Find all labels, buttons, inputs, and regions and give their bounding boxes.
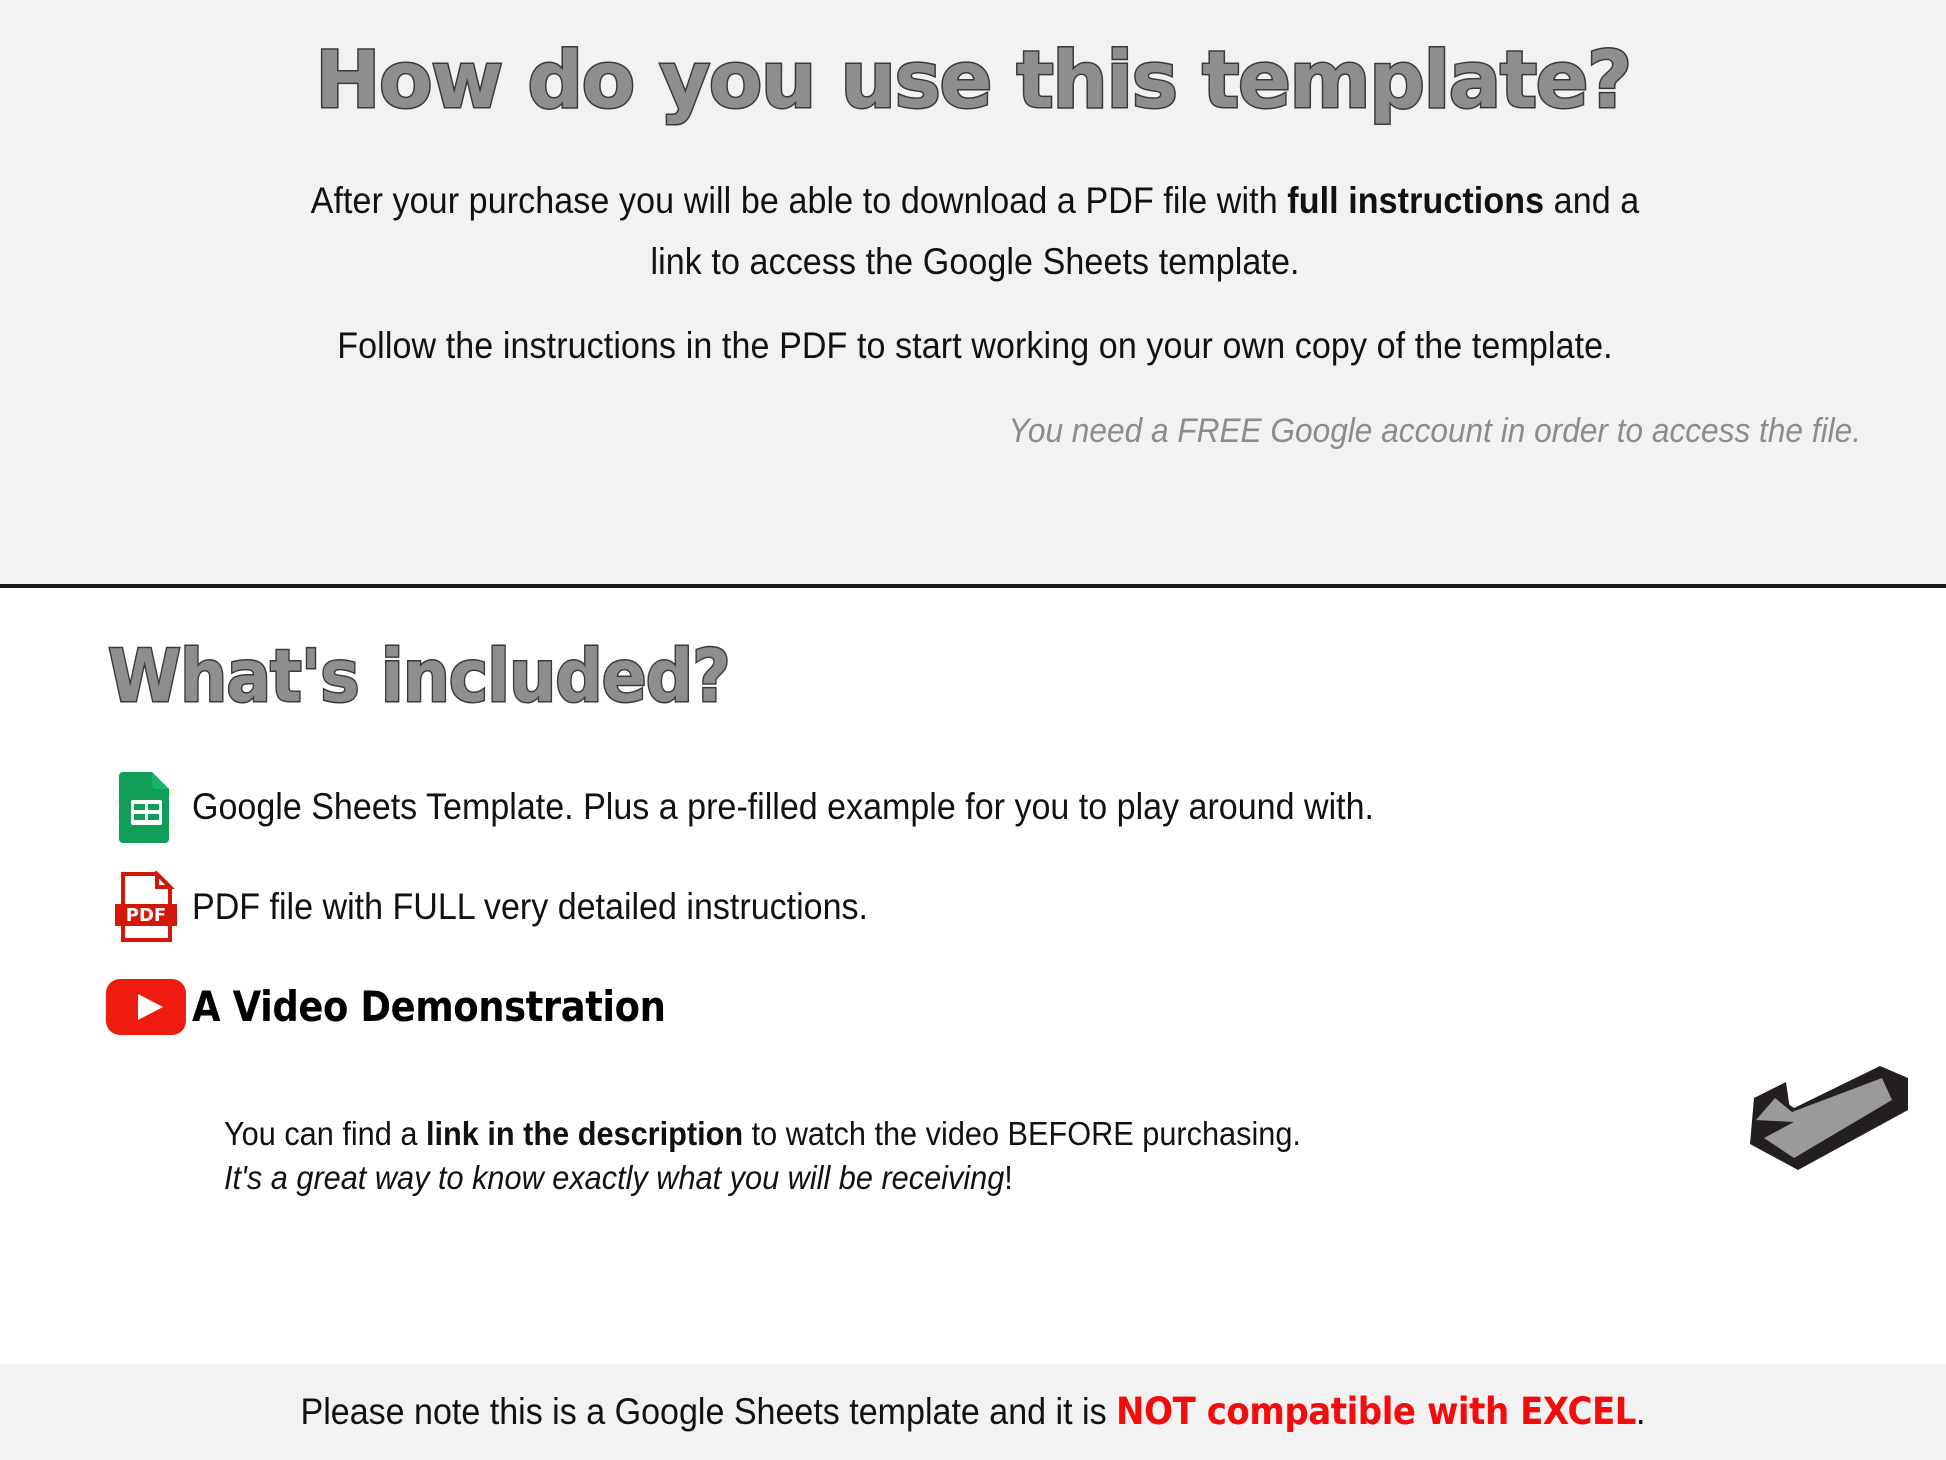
how-to-use-section: How do you use this template? After your… (0, 0, 1946, 588)
compat-note-part2: . (1636, 1391, 1645, 1432)
list-item-label: Google Sheets Template. Plus a pre-fille… (192, 768, 1374, 846)
intro-p1-bold: full instructions (1287, 180, 1544, 221)
whats-included-section: What's included? (0, 592, 1946, 1364)
compat-note-part1: Please note this is a Google Sheets temp… (301, 1391, 1117, 1432)
list-item: Google Sheets Template. Plus a pre-fille… (100, 768, 1860, 846)
video-sub-l2-italic: It's a great way to know exactly what yo… (224, 1159, 1004, 1196)
video-sub-line-1: You can find a link in the description t… (224, 1112, 1526, 1156)
pointing-arrow-icon (1730, 1058, 1910, 1178)
compatibility-note-bar: Please note this is a Google Sheets temp… (0, 1364, 1946, 1460)
intro-paragraph-1: After your purchase you will be able to … (299, 170, 1651, 292)
feature-list: Google Sheets Template. Plus a pre-fille… (100, 768, 1860, 1068)
list-item-label: A Video Demonstration (192, 968, 665, 1046)
video-sub-l1-part1: You can find a (224, 1115, 426, 1152)
excel-warning-text: NOT compatible with EXCEL (1116, 1390, 1636, 1433)
video-sub-text: You can find a link in the description t… (224, 1112, 1624, 1200)
section-heading-whats-included: What's included? (108, 640, 730, 712)
pdf-file-icon: PDF (100, 868, 192, 946)
video-sub-line-2: It's a great way to know exactly what yo… (224, 1156, 1526, 1200)
list-item: A Video Demonstration (100, 968, 1860, 1046)
list-item: PDF PDF file with FULL very detailed ins… (100, 868, 1860, 946)
video-sub-l1-bold: link in the description (426, 1115, 743, 1152)
video-sub-l1-part2: to watch the video BEFORE purchasing. (743, 1115, 1301, 1152)
google-sheets-icon (100, 768, 192, 846)
intro-paragraph-2: Follow the instructions in the PDF to st… (188, 315, 1761, 376)
google-account-note: You need a FREE Google account in order … (652, 412, 1861, 451)
compatibility-note: Please note this is a Google Sheets temp… (78, 1390, 1868, 1433)
svg-text:PDF: PDF (126, 905, 166, 926)
video-sub-l2-tail: ! (1004, 1159, 1013, 1196)
page-title: How do you use this template? (315, 36, 1631, 126)
list-item-label: PDF file with FULL very detailed instruc… (192, 868, 868, 946)
page-title-wrap: How do you use this template? (0, 42, 1946, 120)
youtube-play-icon (100, 968, 192, 1046)
intro-p1-part1: After your purchase you will be able to … (311, 180, 1288, 221)
